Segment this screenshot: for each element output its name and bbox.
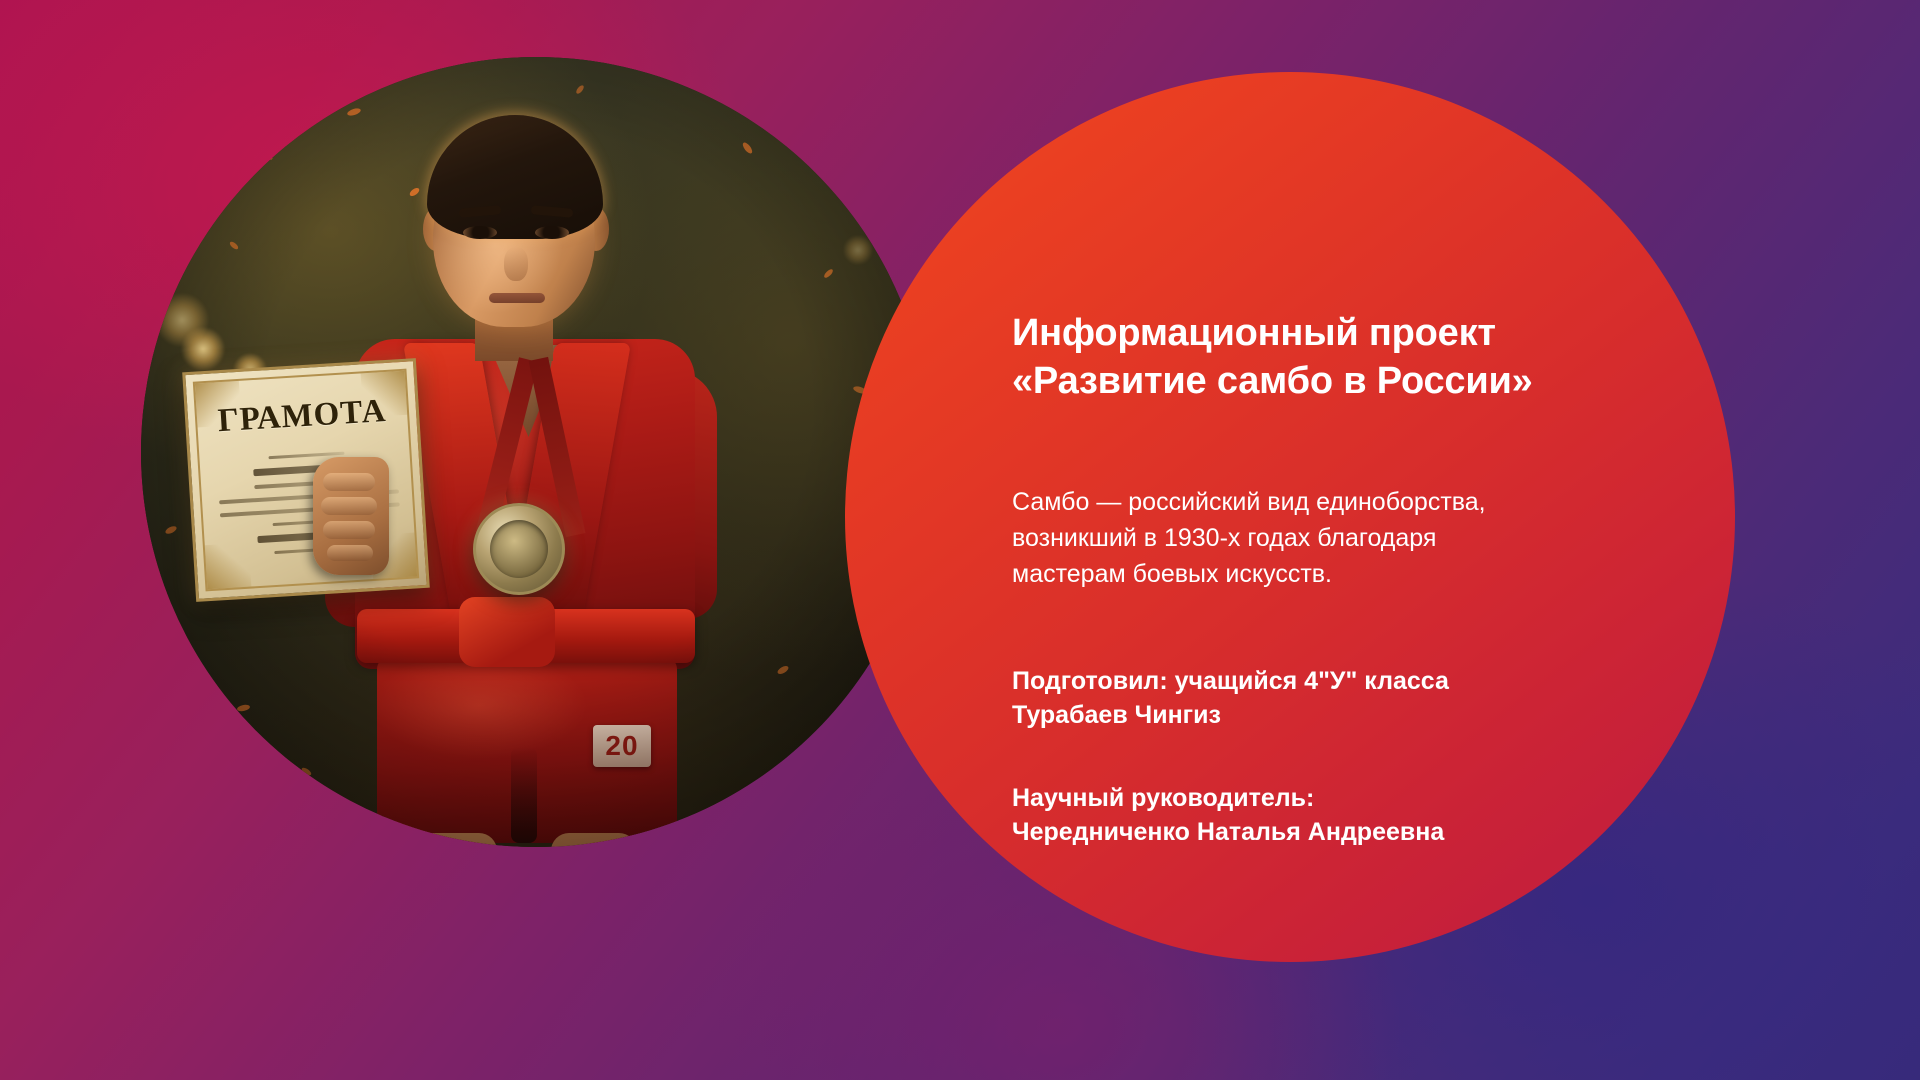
- author-credit: Подготовил: учащийся 4"У" класса Турабае…: [1012, 592, 1612, 733]
- author-role-line: Подготовил: учащийся 4"У" класса: [1012, 664, 1612, 699]
- photo-content: 20 ГРАМОТА: [141, 57, 931, 847]
- certificate-gramota: ГРАМОТА: [182, 358, 430, 602]
- slide-content: Информационный проект «Развитие самбо в …: [1012, 310, 1612, 850]
- medal: [473, 503, 565, 595]
- page-title: Информационный проект «Развитие самбо в …: [1012, 310, 1612, 406]
- athlete-photo-circle: 20 ГРАМОТА: [141, 57, 931, 847]
- supervisor-credit: Научный руководитель: Чередниченко Натал…: [1012, 733, 1612, 850]
- supervisor-role-line: Научный руководитель:: [1012, 781, 1612, 816]
- finger: [327, 545, 373, 561]
- description-line-1: Самбо — российский вид единоборства,: [1012, 484, 1572, 520]
- medal-inner-emblem: [490, 520, 548, 578]
- athlete-hand-holding-certificate: [313, 457, 389, 575]
- description-paragraph: Самбо — российский вид единоборства, воз…: [1012, 406, 1572, 592]
- supervisor-name-line: Чередниченко Наталья Андреевна: [1012, 815, 1612, 850]
- finger: [323, 473, 375, 491]
- presentation-slide: 20 ГРАМОТА: [0, 0, 1920, 1080]
- title-line-2: «Развитие самбо в России»: [1012, 358, 1612, 406]
- finger: [321, 497, 377, 515]
- author-name-line: Турабаев Чингиз: [1012, 698, 1612, 733]
- finger: [323, 521, 375, 539]
- description-line-3: мастерам боевых искусств.: [1012, 556, 1572, 592]
- description-line-2: возникший в 1930-х годах благодаря: [1012, 520, 1572, 556]
- title-line-1: Информационный проект: [1012, 310, 1612, 358]
